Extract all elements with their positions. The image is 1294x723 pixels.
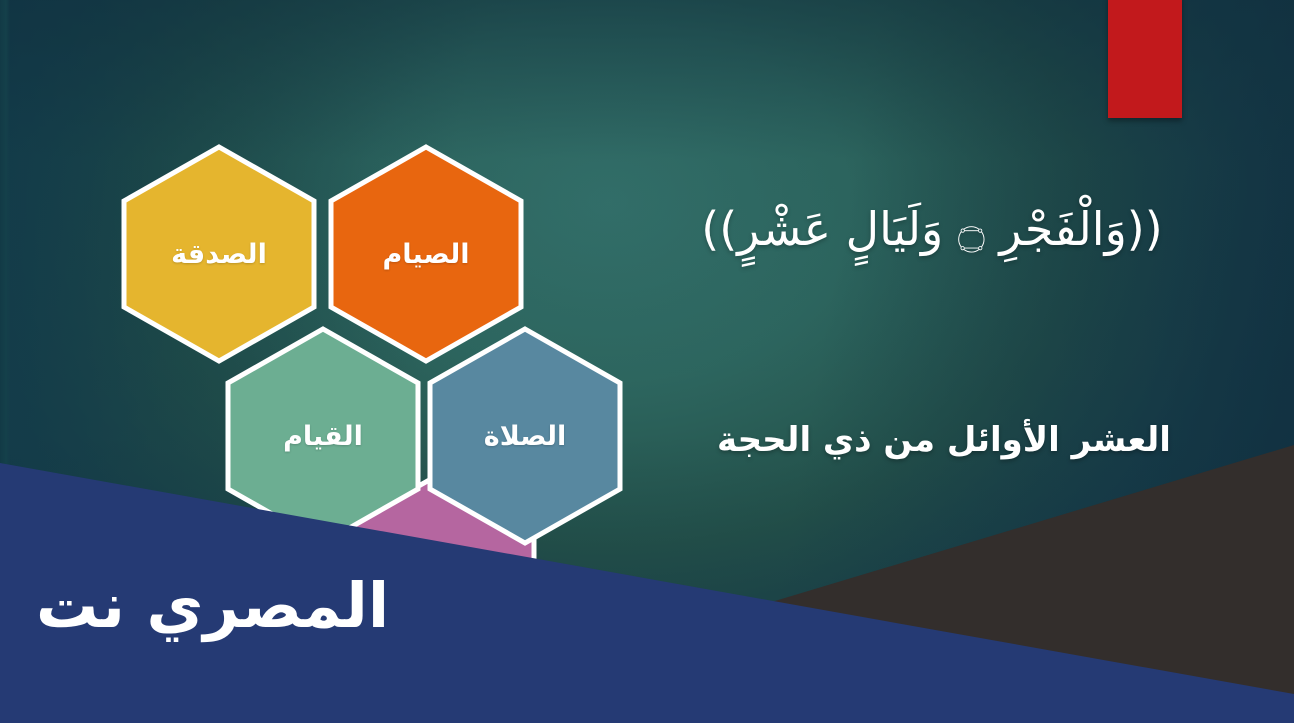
slide-canvas: الصدقة الصيام القيام الصلاة ((وَالْفَجْر… <box>0 0 1294 723</box>
slide-subtitle: العشر الأوائل من ذي الحجة <box>634 420 1254 460</box>
quran-verse-text: ((وَالْفَجْرِ ۝ وَلَيَالٍ عَشْرٍ)) <box>592 196 1272 263</box>
hexagon-salah[interactable]: الصلاة <box>424 325 626 547</box>
watermark-text: المصري نت <box>36 575 389 637</box>
hexagon-qiyam[interactable]: القيام <box>222 325 424 547</box>
